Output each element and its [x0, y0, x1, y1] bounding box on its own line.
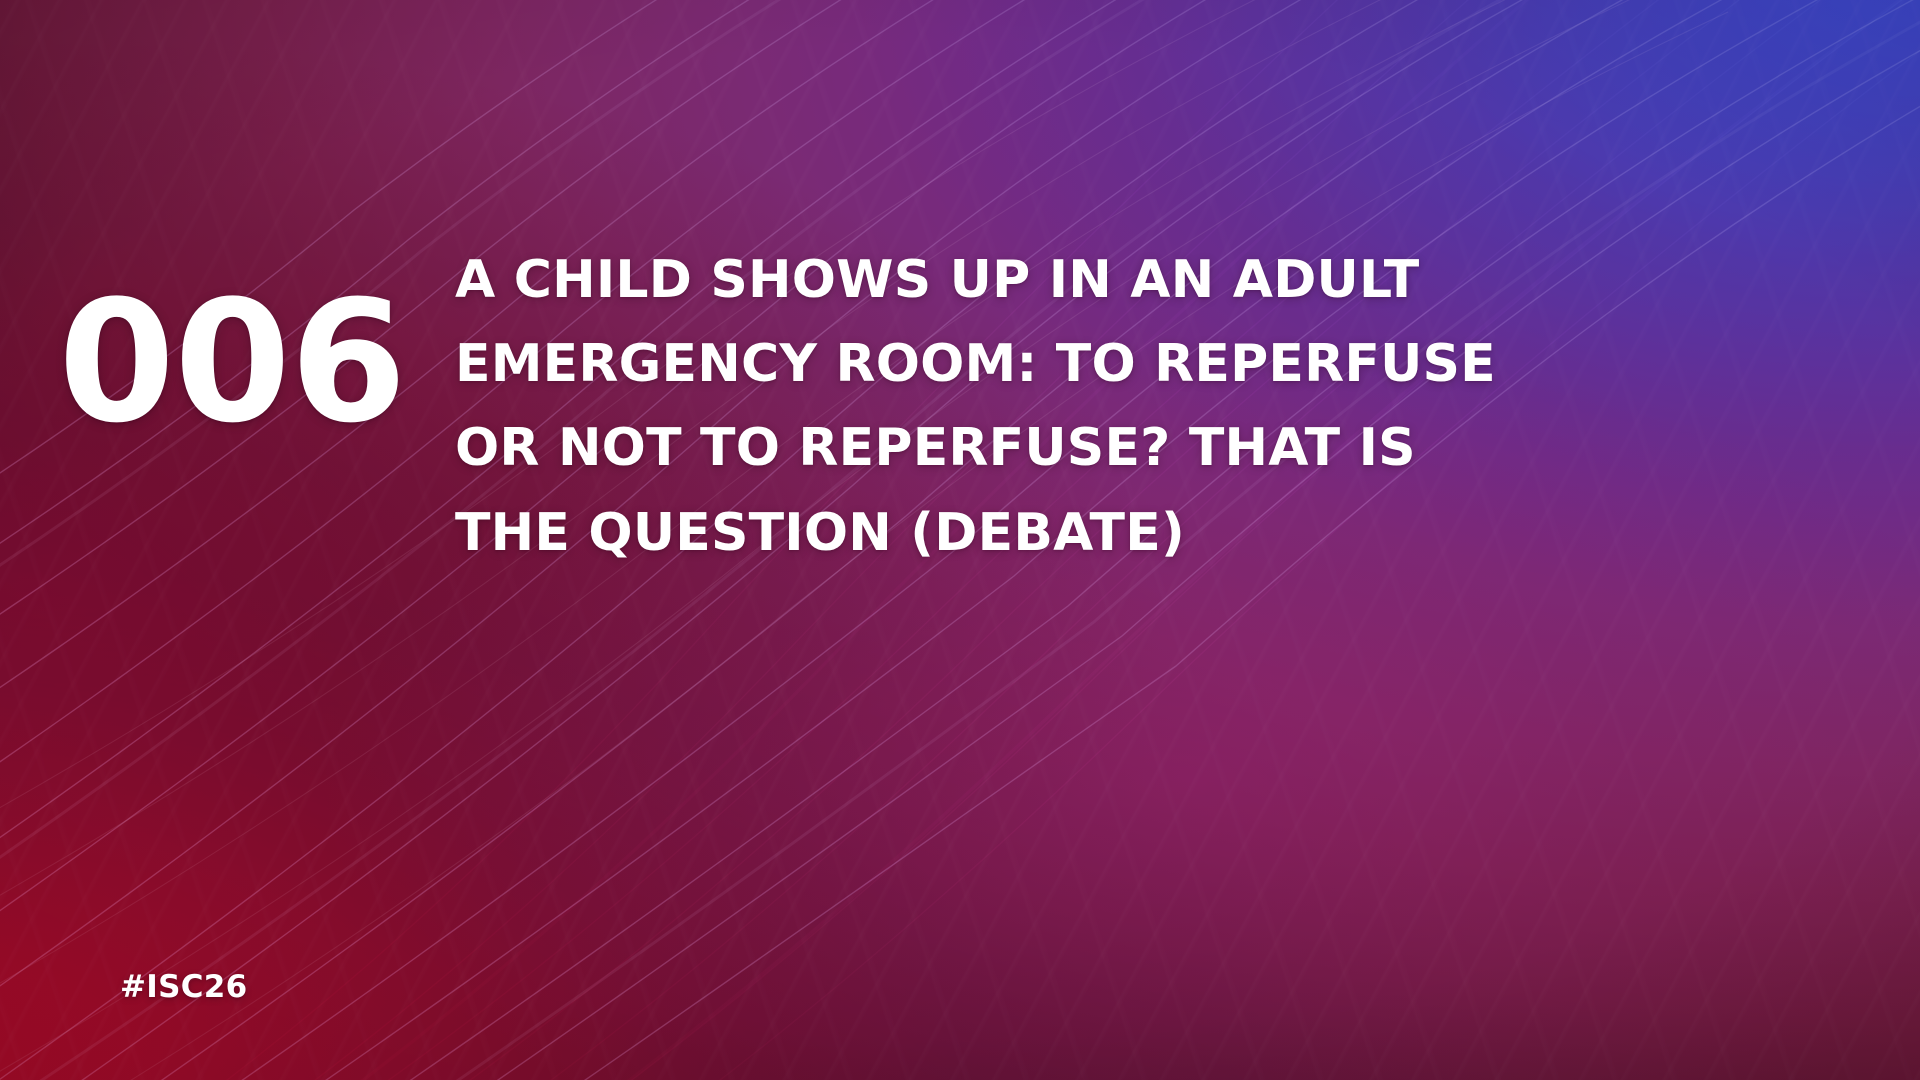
event-hashtag: #ISC26 — [120, 969, 248, 1005]
session-title-line: A CHILD SHOWS UP IN AN ADULT — [455, 250, 1419, 310]
session-number: 006 — [52, 278, 412, 446]
session-title-line: THE QUESTION (DEBATE) — [455, 503, 1185, 563]
slide-content: 006 A CHILD SHOWS UP IN AN ADULT EMERGEN… — [0, 0, 1920, 1080]
session-title: A CHILD SHOWS UP IN AN ADULT EMERGENCY R… — [455, 238, 1665, 575]
slide-root: 006 A CHILD SHOWS UP IN AN ADULT EMERGEN… — [0, 0, 1920, 1080]
session-title-line: EMERGENCY ROOM: TO REPERFUSE — [455, 334, 1496, 394]
session-title-line: OR NOT TO REPERFUSE? THAT IS — [455, 418, 1416, 478]
